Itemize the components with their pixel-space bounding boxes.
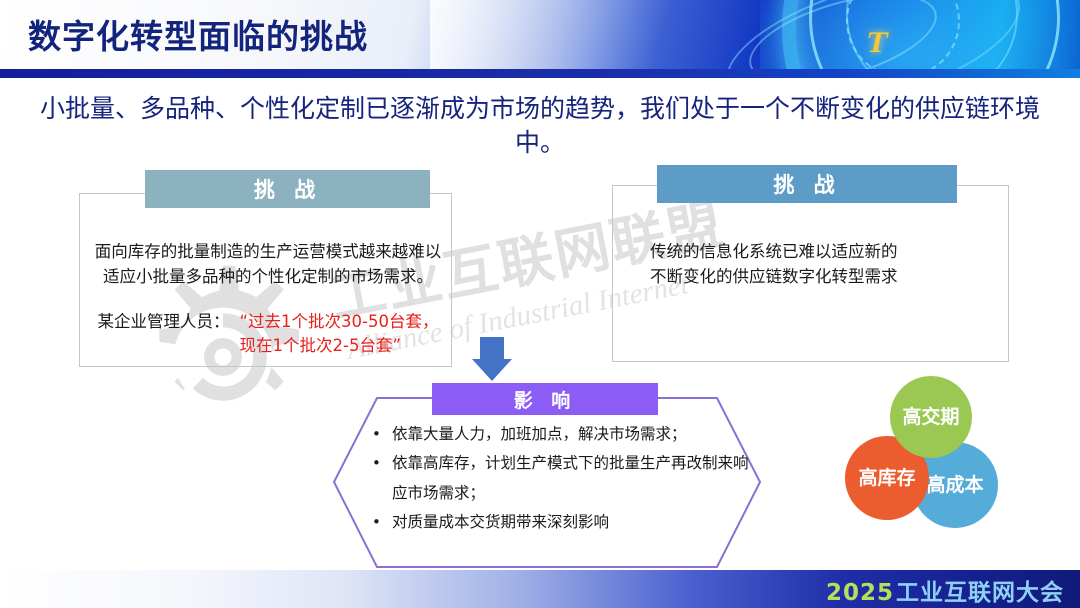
challenge-left-quote-line1: “过去1个批次30-50台套， — [240, 312, 439, 331]
slide-canvas: T 数字化转型面临的挑战 小批量、多品种、个性化定制已逐渐成为市场的趋势，我们处… — [0, 0, 1080, 608]
down-arrow-icon — [472, 337, 512, 381]
challenge-right-line1: 传统的信息化系统已难以适应新的 — [650, 240, 990, 265]
impact-item-text: 依靠高库存，计划生产模式下的批量生产再改制来响应市场需求； — [392, 449, 762, 508]
title-underline-rule — [0, 69, 1080, 78]
conference-logo-main: 2025工业互联网大会 — [814, 573, 1064, 607]
conference-name-cn: 工业互联网大会 — [896, 580, 1064, 606]
arrow-head — [472, 359, 512, 381]
bullet-icon: • — [372, 449, 392, 478]
challenge-right-line2: 不断变化的供应链数字化转型需求 — [650, 265, 990, 290]
impact-header: 影 响 — [432, 383, 658, 415]
challenge-left-quote: “过去1个批次30-50台套， 现在1个批次2-5台套” — [240, 310, 439, 360]
bullet-icon: • — [372, 420, 392, 449]
challenge-left-paragraph: 面向库存的批量制造的生产运营模式越来越难以适应小批量多品种的个性化定制的市场需求… — [88, 240, 448, 290]
conference-year: 2025 — [826, 580, 894, 606]
slide-footer-bar: 2025工业互联网大会 INDUSTRIAL INTERNET CONFEREN… — [0, 570, 1080, 608]
impact-list: • 依靠大量人力，加班加点，解决市场需求； • 依靠高库存，计划生产模式下的批量… — [372, 420, 762, 538]
page-title: 数字化转型面临的挑战 — [28, 10, 368, 58]
conference-logo: 2025工业互联网大会 INDUSTRIAL INTERNET CONFEREN… — [814, 573, 1064, 608]
circle-high-lead-time: 高交期 — [890, 376, 972, 458]
challenge-left-quote-line2: 现在1个批次2-5台套” — [240, 336, 402, 355]
list-item: • 对质量成本交货期带来深刻影响 — [372, 508, 762, 537]
list-item: • 依靠高库存，计划生产模式下的批量生产再改制来响应市场需求； — [372, 449, 762, 508]
challenge-right-body: 传统的信息化系统已难以适应新的 不断变化的供应链数字化转型需求 — [650, 240, 990, 290]
challenge-right-header: 挑 战 — [657, 165, 957, 203]
header-light-sweep — [430, 0, 850, 72]
list-item: • 依靠大量人力，加班加点，解决市场需求； — [372, 420, 762, 449]
challenge-left-header: 挑 战 — [145, 170, 430, 208]
challenge-left-speaker-label: 某企业管理人员： — [98, 310, 230, 335]
impact-circles-group: 高交期 高库存 高成本 — [845, 376, 1003, 534]
challenge-left-body: 面向库存的批量制造的生产运营模式越来越难以适应小批量多品种的个性化定制的市场需求… — [88, 240, 448, 359]
slide-subtitle: 小批量、多品种、个性化定制已逐渐成为市场的趋势，我们处于一个不断变化的供应链环境… — [24, 92, 1056, 160]
impact-item-text: 对质量成本交货期带来深刻影响 — [392, 508, 762, 537]
impact-item-text: 依靠大量人力，加班加点，解决市场需求； — [392, 420, 762, 449]
slide-header-banner: T 数字化转型面临的挑战 — [0, 0, 1080, 72]
arrow-shaft — [480, 337, 504, 359]
bullet-icon: • — [372, 508, 392, 537]
challenge-left-quote-block: 某企业管理人员： “过去1个批次30-50台套， 现在1个批次2-5台套” — [88, 310, 448, 360]
